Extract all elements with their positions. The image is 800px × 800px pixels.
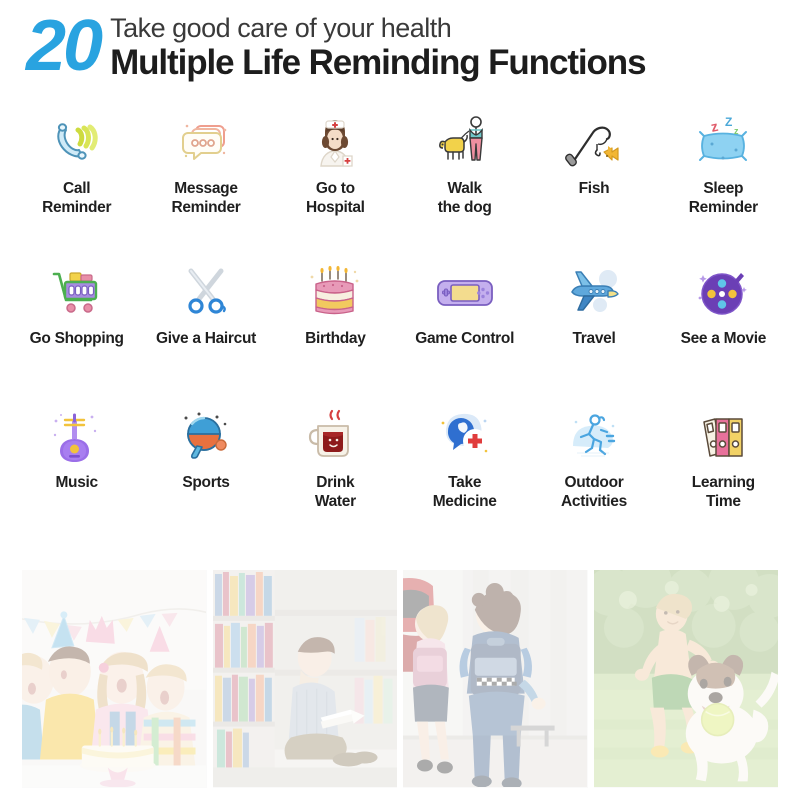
feature-birthday[interactable]: Birthday	[271, 254, 400, 400]
feature-drink-water[interactable]: Drink Water	[271, 400, 400, 550]
photo-boy-running-with-dog	[594, 570, 779, 788]
feature-sports[interactable]: Sports	[141, 400, 270, 550]
feature-music[interactable]: Music	[12, 400, 141, 550]
feature-call-reminder[interactable]: Call Reminder	[12, 106, 141, 254]
feature-game-control[interactable]: Game Control	[400, 254, 529, 400]
shopping-cart-icon	[45, 260, 109, 324]
walking-dog-icon	[433, 110, 497, 174]
feature-label: Message Reminder	[171, 180, 240, 218]
feature-learning-time[interactable]: Learning Time	[659, 400, 788, 550]
feature-give-a-haircut[interactable]: Give a Haircut	[141, 254, 270, 400]
fishing-rod-icon	[562, 110, 626, 174]
feature-label: Game Control	[415, 330, 514, 349]
feature-travel[interactable]: Travel	[529, 254, 658, 400]
sleeping-pillow-icon: z Z z	[691, 110, 755, 174]
photo-children-to-school	[403, 570, 588, 788]
feature-label: Go Shopping	[30, 330, 124, 349]
airplane-icon	[562, 260, 626, 324]
header-title: Multiple Life Reminding Functions	[110, 44, 645, 83]
feature-label: Learning Time	[692, 474, 755, 512]
feature-row-3: Music Sports	[12, 400, 788, 550]
running-person-icon	[562, 404, 626, 468]
lifestyle-photo-strip	[22, 570, 778, 788]
feature-label: Call Reminder	[42, 180, 111, 218]
scissors-icon	[174, 260, 238, 324]
feature-label: Fish	[579, 180, 610, 199]
svg-text:z: z	[734, 126, 739, 136]
nurse-icon	[303, 110, 367, 174]
svg-text:z: z	[710, 118, 720, 135]
handheld-console-icon	[433, 260, 497, 324]
feature-label: Sports	[182, 474, 229, 493]
header-subtitle: Take good care of your health	[110, 14, 645, 43]
feature-outdoor-activities[interactable]: Outdoor Activities	[529, 400, 658, 550]
photo-kids-birthday	[22, 570, 207, 788]
telephone-handset-icon	[45, 110, 109, 174]
feature-row-1: Call Reminder Message Reminder	[12, 106, 788, 254]
birthday-cake-icon	[303, 260, 367, 324]
feature-go-to-hospital[interactable]: Go to Hospital	[271, 106, 400, 254]
ping-pong-icon	[174, 404, 238, 468]
feature-label: Drink Water	[315, 474, 356, 512]
hot-drink-mug-icon	[303, 404, 367, 468]
chat-bubble-icon	[174, 110, 238, 174]
photo-boy-reading-library	[213, 570, 398, 788]
feature-label: Outdoor Activities	[561, 474, 627, 512]
header: 20 Take good care of your health Multipl…	[0, 0, 800, 100]
feature-label: Birthday	[305, 330, 365, 349]
feature-go-shopping[interactable]: Go Shopping	[12, 254, 141, 400]
header-text-block: Take good care of your health Multiple L…	[110, 14, 645, 83]
film-reel-icon	[691, 260, 755, 324]
feature-message-reminder[interactable]: Message Reminder	[141, 106, 270, 254]
feature-label: Go to Hospital	[306, 180, 365, 218]
feature-label: Music	[55, 474, 97, 493]
feature-count-number: 20	[26, 12, 100, 80]
feature-label: See a Movie	[681, 330, 766, 349]
feature-sleep-reminder[interactable]: z Z z Sleep Reminder	[659, 106, 788, 254]
feature-grid: Call Reminder Message Reminder	[0, 100, 800, 550]
feature-row-2: Go Shopping Give a Haircut	[12, 254, 788, 400]
feature-label: Give a Haircut	[156, 330, 256, 349]
feature-label: Travel	[572, 330, 615, 349]
feature-label: Sleep Reminder	[689, 180, 758, 218]
medicine-cross-icon	[433, 404, 497, 468]
feature-label: Walk the dog	[438, 180, 492, 218]
feature-take-medicine[interactable]: Take Medicine	[400, 400, 529, 550]
svg-text:Z: Z	[725, 115, 732, 129]
feature-see-a-movie[interactable]: See a Movie	[659, 254, 788, 400]
feature-walk-the-dog[interactable]: Walk the dog	[400, 106, 529, 254]
feature-fish[interactable]: Fish	[529, 106, 658, 254]
feature-label: Take Medicine	[433, 474, 497, 512]
binders-books-icon	[691, 404, 755, 468]
guitar-icon	[45, 404, 109, 468]
